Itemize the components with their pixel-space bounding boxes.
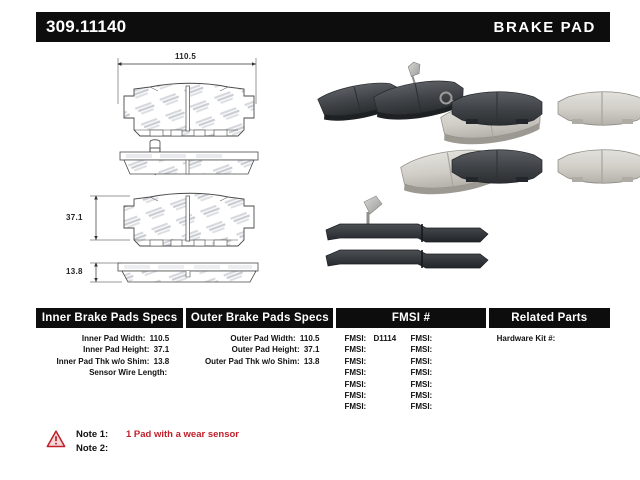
note-1-text: 1 Pad with a wear sensor	[126, 428, 239, 442]
part-number: 309.11140	[46, 17, 126, 37]
related-label: Hardware Kit #:	[497, 334, 556, 343]
fmsi-label: FMSI:	[344, 391, 366, 400]
spec-label: Outer Pad Thk w/o Shim:	[205, 357, 300, 366]
related-row: Hardware Kit #:	[489, 333, 610, 344]
fmsi-column: FMSI # FMSI: D1114 FMSI: FMSI: FMSI:	[336, 308, 485, 420]
fmsi-row: FMSI:	[344, 401, 410, 412]
fmsi-label: FMSI:	[410, 402, 432, 411]
fmsi-row: FMSI:	[344, 379, 410, 390]
spec-value: 110.5	[150, 334, 170, 343]
fmsi-body: FMSI: D1114 FMSI: FMSI: FMSI: FMSI:	[336, 328, 485, 413]
fmsi-header: FMSI #	[336, 308, 485, 328]
spec-value: 13.8	[154, 357, 170, 366]
specifications-table: Inner Brake Pads Specs Inner Pad Width: …	[36, 308, 610, 420]
note-1-label: Note 1:	[76, 428, 120, 442]
fmsi-row: FMSI:	[410, 401, 476, 412]
fmsi-label: FMSI:	[344, 402, 366, 411]
spec-label: Outer Pad Height:	[232, 345, 300, 354]
fmsi-value: D1114	[373, 334, 396, 343]
header-bar: 309.11140 BRAKE PAD	[36, 12, 610, 42]
brake-pad-line-drawings	[0, 44, 310, 290]
spec-row: Inner Pad Width: 110.5	[36, 333, 183, 344]
drawing-front-view	[90, 193, 254, 246]
dimension-thickness-label: 13.8	[66, 267, 83, 276]
outer-specs-column: Outer Brake Pads Specs Outer Pad Width: …	[186, 308, 333, 420]
drawing-side-thickness-view	[90, 263, 258, 282]
fmsi-label: FMSI:	[410, 380, 432, 389]
drawing-top-plan-view	[118, 58, 256, 136]
inner-specs-column: Inner Brake Pads Specs Inner Pad Width: …	[36, 308, 183, 420]
spec-row: Outer Pad Width: 110.5	[186, 333, 333, 344]
warning-triangle-icon	[46, 429, 66, 449]
fmsi-label: FMSI:	[410, 391, 432, 400]
outer-specs-body: Outer Pad Width: 110.5 Outer Pad Height:…	[186, 328, 333, 379]
spec-row: Inner Pad Height: 37.1	[36, 344, 183, 355]
spec-label: Sensor Wire Length:	[89, 368, 167, 377]
spec-row: Outer Pad Height: 37.1	[186, 344, 333, 355]
fmsi-label: FMSI:	[344, 334, 366, 343]
inner-specs-body: Inner Pad Width: 110.5 Inner Pad Height:…	[36, 328, 183, 379]
spec-label: Inner Pad Height:	[83, 345, 149, 354]
fmsi-label: FMSI:	[410, 357, 432, 366]
dimension-width-label: 110.5	[175, 52, 196, 61]
fmsi-subcolumn-left: FMSI: D1114 FMSI: FMSI: FMSI: FMSI:	[344, 333, 410, 413]
inner-specs-header: Inner Brake Pads Specs	[36, 308, 183, 328]
spec-label: Inner Pad Thk w/o Shim:	[57, 357, 150, 366]
fmsi-label: FMSI:	[344, 380, 366, 389]
note-rows: Note 1: 1 Pad with a wear sensor Note 2:	[76, 428, 239, 455]
fmsi-row: FMSI: D1114	[344, 333, 410, 344]
fmsi-label: FMSI:	[344, 357, 366, 366]
fmsi-row: FMSI:	[410, 390, 476, 401]
fmsi-label: FMSI:	[410, 345, 432, 354]
related-parts-body: Hardware Kit #:	[489, 328, 610, 344]
dimension-height-label: 37.1	[66, 213, 83, 222]
spec-row	[186, 367, 333, 378]
fmsi-label: FMSI:	[344, 345, 366, 354]
photo-edge-view-pair	[326, 196, 488, 268]
note-2-label: Note 2:	[76, 442, 120, 456]
related-parts-column: Related Parts Hardware Kit #:	[489, 308, 610, 420]
drawing-edge-view-with-sensor	[120, 140, 258, 175]
spec-row: Outer Pad Thk w/o Shim: 13.8	[186, 356, 333, 367]
fmsi-subcolumn-right: FMSI: FMSI: FMSI: FMSI: FMSI:	[410, 333, 476, 413]
spec-label: Inner Pad Width:	[82, 334, 145, 343]
fmsi-label: FMSI:	[410, 334, 432, 343]
fmsi-row: FMSI:	[410, 356, 476, 367]
fmsi-row: FMSI:	[344, 390, 410, 401]
spec-value: 13.8	[304, 357, 320, 366]
product-photographs	[310, 44, 640, 290]
spec-row: Sensor Wire Length:	[36, 367, 183, 378]
spec-value: 37.1	[154, 345, 170, 354]
fmsi-label: FMSI:	[344, 368, 366, 377]
fmsi-row: FMSI:	[410, 344, 476, 355]
fmsi-row: FMSI:	[344, 344, 410, 355]
fmsi-row: FMSI:	[410, 367, 476, 378]
related-parts-header: Related Parts	[489, 308, 610, 328]
fmsi-row: FMSI:	[344, 367, 410, 378]
fmsi-row: FMSI:	[410, 333, 476, 344]
fmsi-row: FMSI:	[344, 356, 410, 367]
note-row-1: Note 1: 1 Pad with a wear sensor	[76, 428, 239, 442]
fmsi-label: FMSI:	[410, 368, 432, 377]
spec-label: Outer Pad Width:	[230, 334, 295, 343]
outer-specs-header: Outer Brake Pads Specs	[186, 308, 333, 328]
spec-row: Inner Pad Thk w/o Shim: 13.8	[36, 356, 183, 367]
product-type-title: BRAKE PAD	[494, 19, 596, 36]
notes-section: Note 1: 1 Pad with a wear sensor Note 2:	[46, 428, 239, 455]
fmsi-row: FMSI:	[410, 379, 476, 390]
note-row-2: Note 2:	[76, 442, 239, 456]
spec-value: 110.5	[300, 334, 320, 343]
technical-drawing-area: 110.5 37.1 13.8	[0, 44, 310, 290]
spec-value: 37.1	[304, 345, 320, 354]
product-photo-area	[310, 44, 640, 290]
